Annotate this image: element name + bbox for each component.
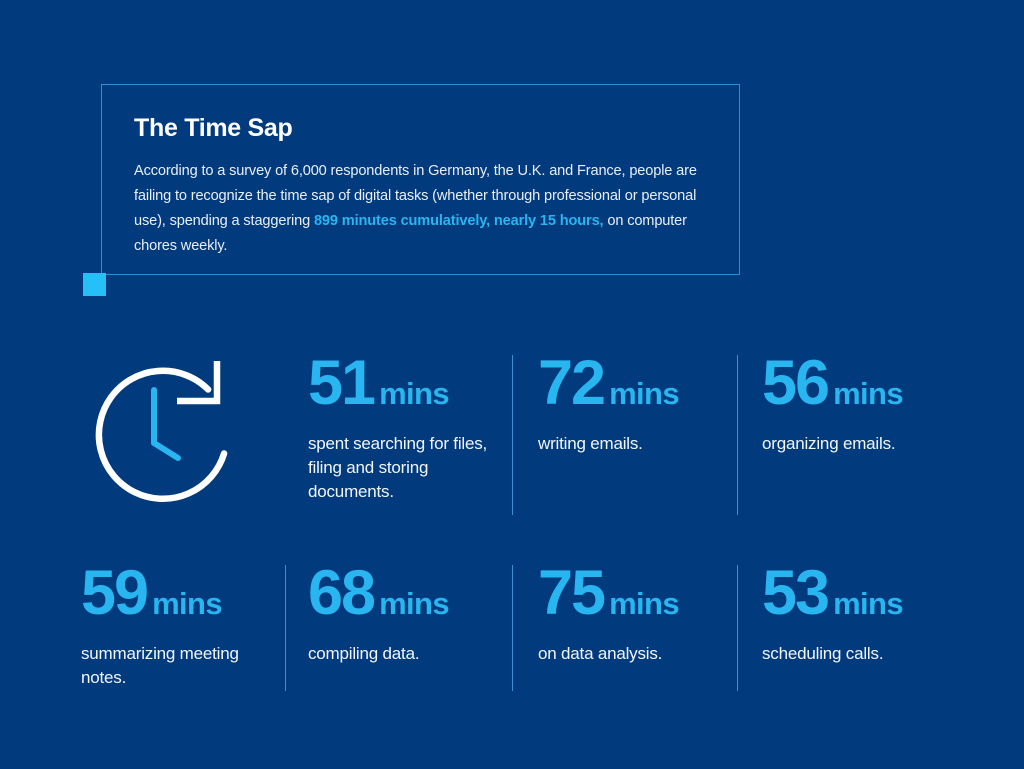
stat-description: organizing emails. xyxy=(762,432,992,456)
stat-description: writing emails. xyxy=(538,432,733,456)
intro-paragraph: According to a survey of 6,000 responden… xyxy=(134,159,705,259)
stats-row-top: 51mins spent searching for files, filing… xyxy=(0,352,1024,517)
stat-unit: mins xyxy=(379,376,449,411)
stat-card: 53mins scheduling calls. xyxy=(762,562,992,666)
stat-number-line: 51mins xyxy=(308,352,508,415)
stat-number-line: 59mins xyxy=(81,562,271,625)
stat-card: 56mins organizing emails. xyxy=(762,352,992,456)
stat-value: 59 xyxy=(81,558,147,628)
stat-unit: mins xyxy=(833,376,903,411)
stat-unit: mins xyxy=(152,586,222,621)
intro-text-highlight: 899 minutes cumulatively, nearly 15 hour… xyxy=(314,213,603,229)
stat-unit: mins xyxy=(609,376,679,411)
stat-description: summarizing meeting notes. xyxy=(81,642,271,690)
stat-description: on data analysis. xyxy=(538,642,733,666)
stat-divider xyxy=(285,565,286,691)
intro-card: The Time Sap According to a survey of 6,… xyxy=(101,84,740,275)
stat-value: 51 xyxy=(308,348,374,418)
stat-value: 56 xyxy=(762,348,828,418)
stat-description: spent searching for files, filing and st… xyxy=(308,432,508,504)
stat-card: 72mins writing emails. xyxy=(538,352,733,456)
stat-description: scheduling calls. xyxy=(762,642,992,666)
stat-value: 53 xyxy=(762,558,828,628)
stat-card: 51mins spent searching for files, filing… xyxy=(308,352,508,504)
intro-card-inner: The Time Sap According to a survey of 6,… xyxy=(102,85,739,259)
stat-number-line: 72mins xyxy=(538,352,733,415)
stat-number-line: 75mins xyxy=(538,562,733,625)
page-title: The Time Sap xyxy=(134,115,705,143)
stat-divider xyxy=(737,355,738,515)
stat-number-line: 53mins xyxy=(762,562,992,625)
stat-divider xyxy=(737,565,738,691)
stat-value: 72 xyxy=(538,348,604,418)
stat-value: 75 xyxy=(538,558,604,628)
stat-card: 75mins on data analysis. xyxy=(538,562,733,666)
stat-unit: mins xyxy=(379,586,449,621)
stat-card: 68mins compiling data. xyxy=(308,562,503,666)
stat-unit: mins xyxy=(833,586,903,621)
stat-card: 59mins summarizing meeting notes. xyxy=(81,562,271,690)
stat-number-line: 68mins xyxy=(308,562,503,625)
stat-unit: mins xyxy=(609,586,679,621)
stat-divider xyxy=(512,565,513,691)
stat-number-line: 56mins xyxy=(762,352,992,415)
stat-divider xyxy=(512,355,513,515)
stat-value: 68 xyxy=(308,558,374,628)
stat-description: compiling data. xyxy=(308,642,503,666)
stats-row-bottom: 59mins summarizing meeting notes. 68mins… xyxy=(0,562,1024,692)
accent-square xyxy=(83,273,106,296)
